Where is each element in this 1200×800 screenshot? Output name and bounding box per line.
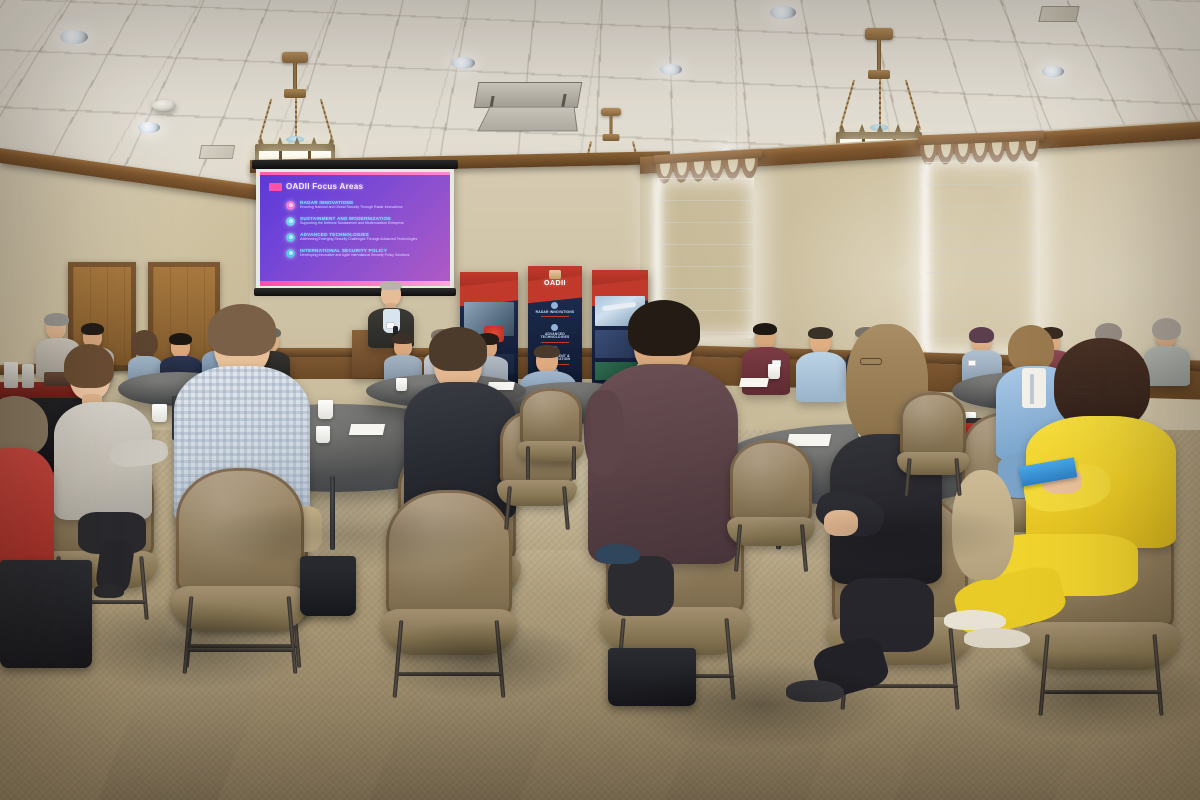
hair (208, 304, 276, 356)
slide-bullet-subtext: Developing Innovative and Agile Internat… (300, 253, 409, 257)
slide-title: OADII Focus Areas (286, 182, 363, 191)
coffee-cup (768, 364, 780, 379)
floor-shadow (60, 600, 320, 690)
shoe-sneaker (596, 544, 640, 564)
leg (608, 556, 674, 616)
shoe (94, 584, 124, 598)
paper-handout (349, 424, 385, 435)
valance-arch (988, 142, 1005, 163)
screen-case (252, 160, 458, 169)
presentation-slide: OADII Focus Areas RADAR INNOVATIONS Ensu… (260, 172, 450, 286)
slide-bullet-subtext: Addressing Emerging Security Challenges … (300, 237, 417, 241)
paper-handout (739, 378, 769, 387)
coffee-cup (316, 426, 330, 443)
slide-bullet-list: RADAR INNOVATIONS Ensuring National and … (286, 200, 442, 264)
conference-room-photo: OADII Focus Areas RADAR INNOVATIONS Ensu… (0, 0, 1200, 800)
hair (81, 323, 104, 335)
hair (380, 281, 402, 290)
slide-bullet: ADVANCED TECHNOLOGIES Addressing Emergin… (286, 232, 442, 242)
floor-shadow (740, 500, 1020, 566)
torso (742, 347, 790, 395)
valance-arch (1005, 141, 1022, 162)
arm (584, 390, 624, 476)
ceiling-vent (1038, 6, 1079, 22)
valance-arch (971, 143, 988, 164)
projection-screen: OADII Focus Areas RADAR INNOVATIONS Ensu… (252, 160, 458, 308)
slide-bullet: INTERNATIONAL SECURITY POLICY Developing… (286, 248, 442, 258)
chair-empty-back-right (900, 392, 966, 496)
person-man-maroon-shirt-foreground (588, 306, 738, 636)
globe-icon (286, 249, 295, 258)
eyeglasses-icon (1070, 386, 1094, 394)
downlight-icon (1042, 66, 1064, 77)
name-badge (968, 360, 976, 366)
torso (0, 448, 54, 568)
valance-arch (741, 158, 758, 179)
floor-shadow (200, 500, 500, 570)
hair (969, 327, 994, 343)
floor-shadow (370, 620, 590, 700)
coffee-cup (318, 400, 333, 419)
banner-item: RADAR INNOVATIONS (532, 302, 577, 317)
hair (1152, 318, 1181, 340)
valance-arch (954, 143, 971, 164)
hair (64, 344, 114, 388)
slide-bullet: SUSTAINMENT AND MODERNIZATION Supporting… (286, 216, 442, 226)
circuit-icon (286, 233, 295, 242)
coffee-dispenser (22, 364, 34, 388)
ceiling-vent (199, 145, 235, 159)
eyeglasses-icon (860, 358, 882, 365)
floor-shadow (620, 660, 900, 750)
tech-icon (551, 324, 558, 331)
downlight-icon (60, 30, 88, 44)
gear-icon (286, 217, 295, 226)
banner-item: ADVANCED TECHNOLOGIES (532, 324, 577, 343)
valance-arch (1022, 141, 1039, 162)
banner-logo: OADII (544, 280, 566, 287)
hair (429, 327, 487, 371)
valance-arch (724, 159, 741, 180)
hair (628, 300, 700, 356)
hair (44, 313, 69, 326)
chair-empty-back-center (520, 388, 582, 480)
coffee-dispenser (4, 362, 18, 388)
hair (753, 323, 777, 335)
downlight-icon (770, 6, 796, 19)
hair (534, 345, 560, 358)
downlight-icon (138, 122, 160, 133)
hair (0, 396, 48, 456)
downlight-icon (451, 57, 475, 69)
slide-bullet-subtext: Ensuring National and Global Security Th… (300, 205, 402, 209)
screen-weight-bar (254, 288, 456, 296)
slide-title-accent (269, 183, 282, 191)
slide-bullet-subtext: Supporting the Defense Sustainment and M… (300, 221, 404, 225)
person-maroon-shirt (742, 326, 790, 400)
person-woman-gray-cardigan (54, 344, 162, 594)
person-woman-yellow-outfit (1000, 338, 1180, 668)
smoke-detector-icon (152, 100, 176, 111)
radar-icon (551, 302, 558, 309)
slide-bullet: RADAR INNOVATIONS Ensuring National and … (286, 200, 442, 210)
downlight-icon (660, 64, 682, 75)
screen-surface: OADII Focus Areas RADAR INNOVATIONS Ensu… (256, 169, 454, 289)
radar-dot-icon (286, 201, 295, 210)
